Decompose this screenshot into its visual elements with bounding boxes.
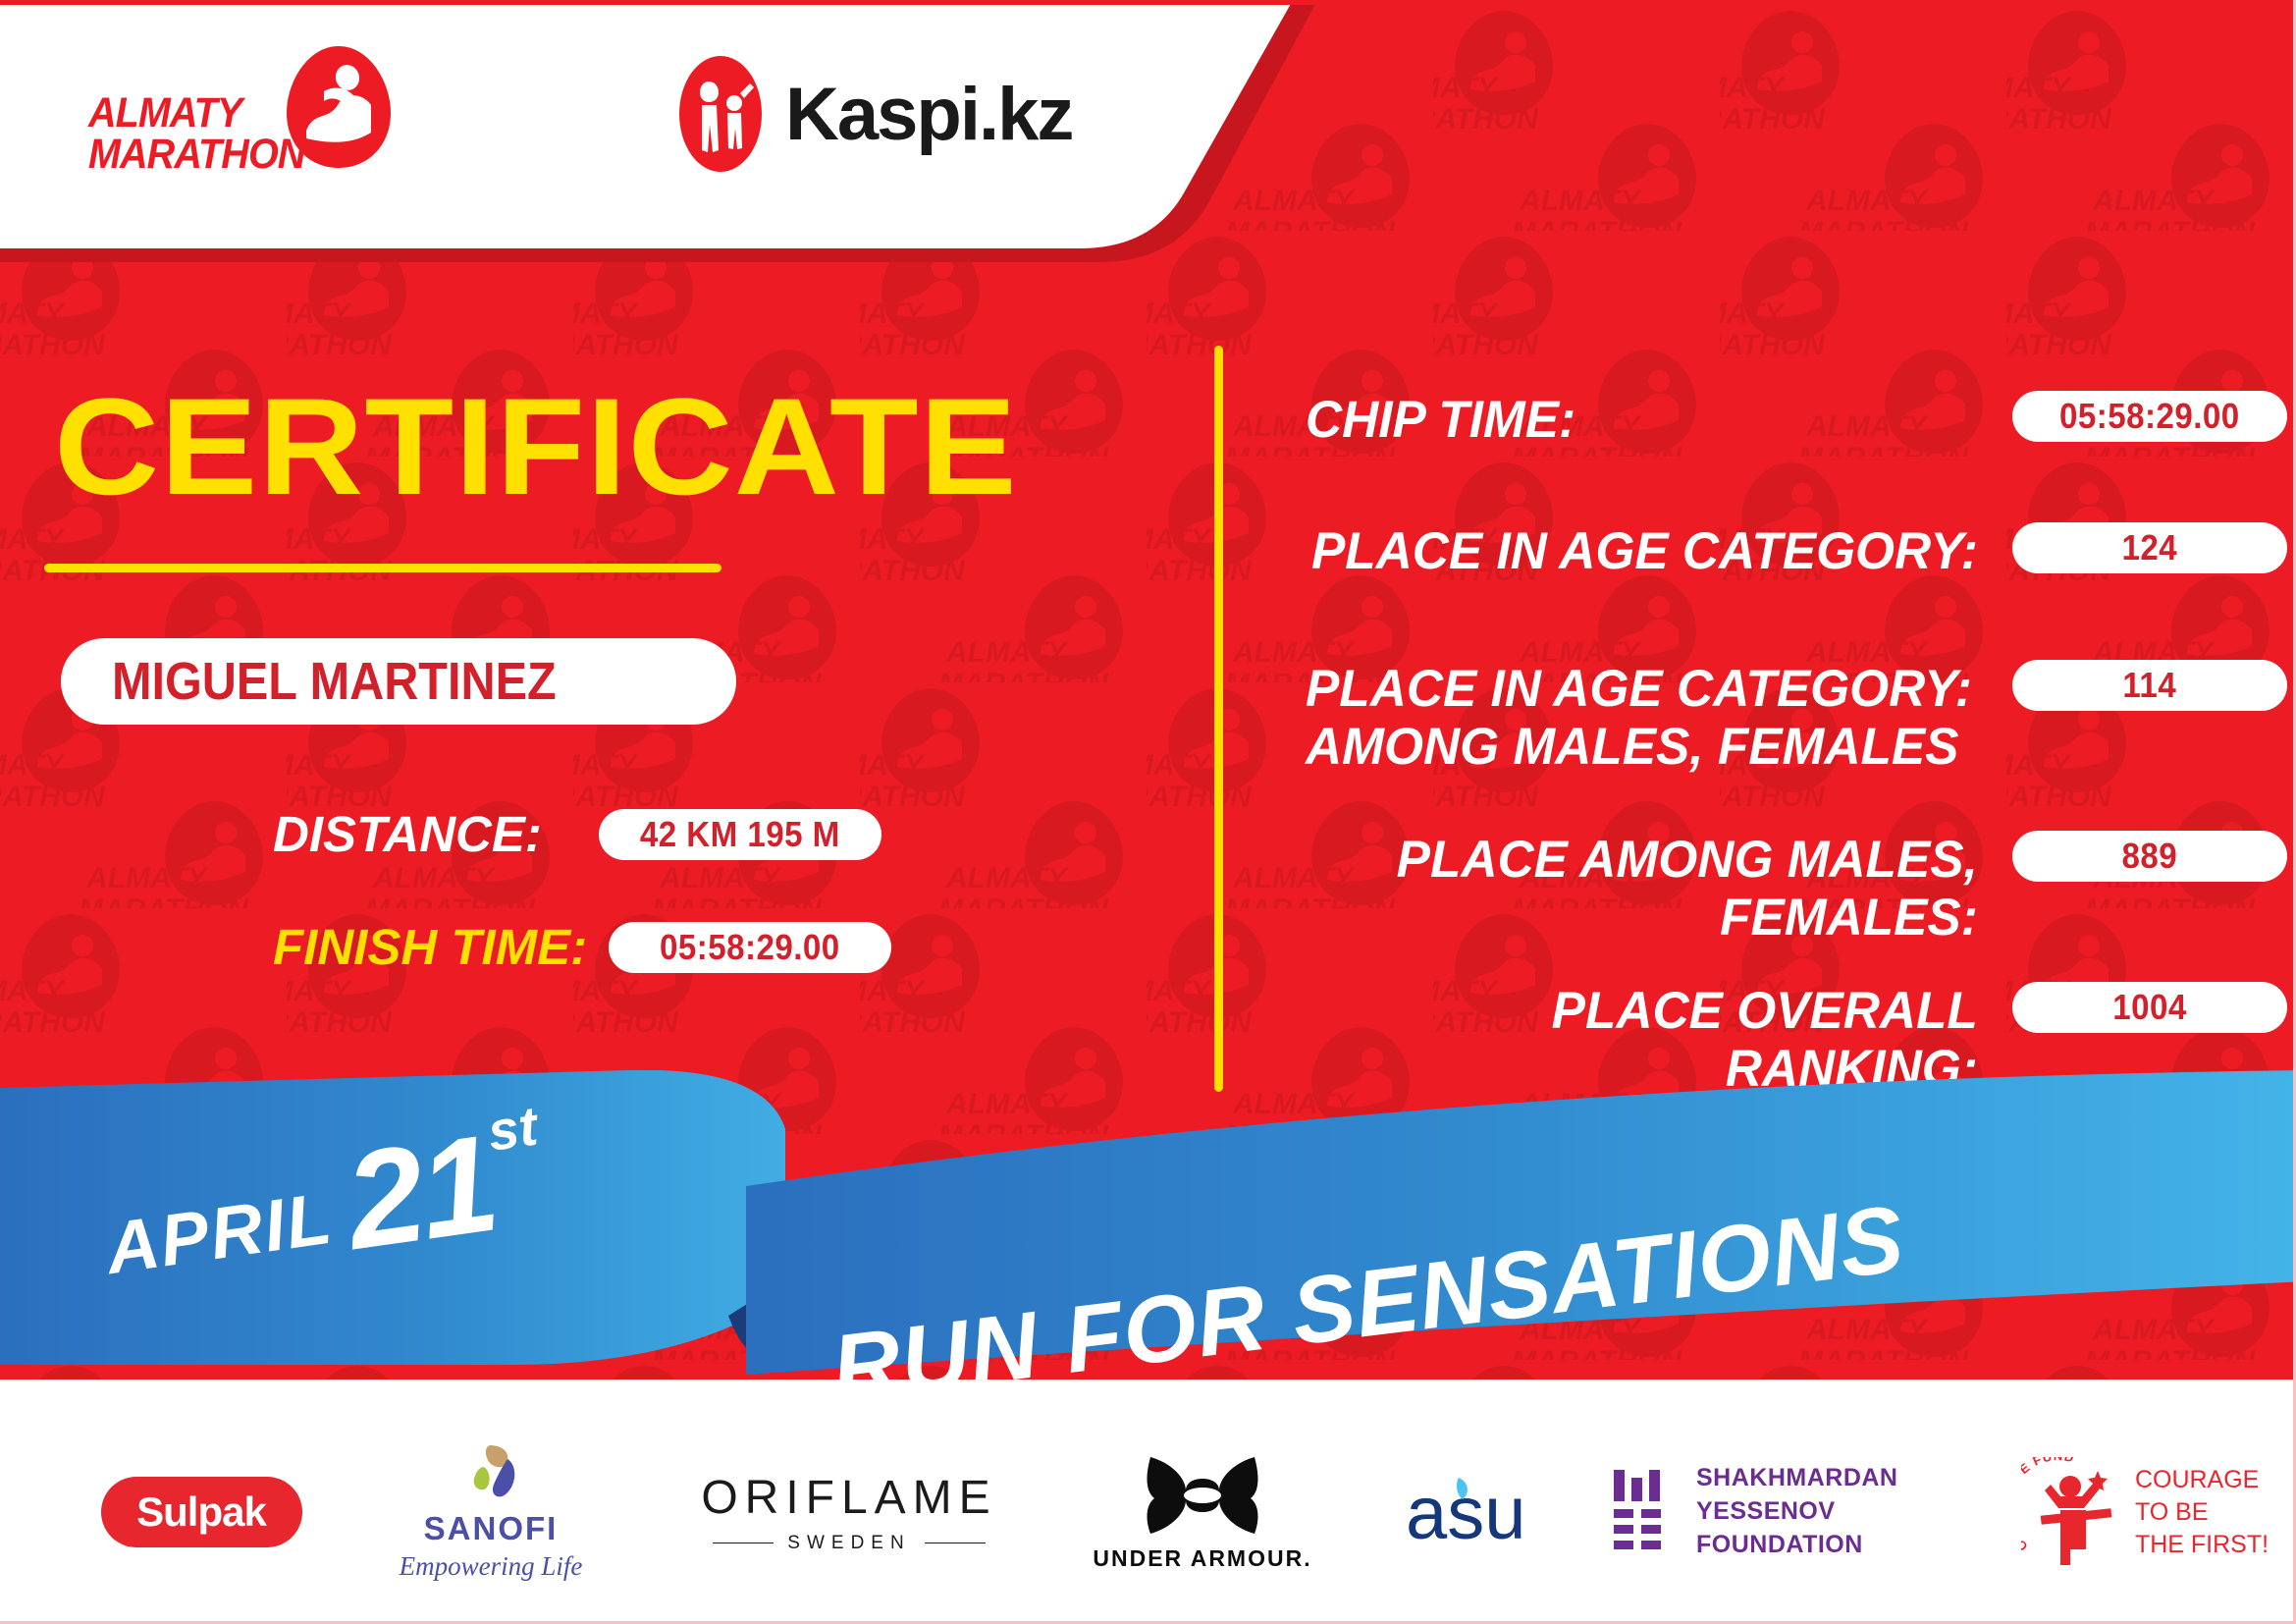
chip-time-value-pill: 05:58:29.00 [2012, 391, 2287, 442]
oriflame-wordmark: ORIFLAME [701, 1471, 996, 1525]
sponsor-strip: Sulpak SANOFI Empowering Life ORIFLAME S… [0, 1404, 2296, 1620]
oriflame-sub-row: SWEDEN [687, 1533, 1011, 1554]
distance-value-pill: 42 KM 195 M [599, 809, 881, 860]
chip-time-label: CHIP TIME: [1306, 391, 1978, 449]
event-day-suffix: st [484, 1094, 541, 1164]
place-age-category-row: PLACE IN AGE CATEGORY: 124 [1306, 522, 2287, 580]
certificate-title: CERTIFICATE [54, 378, 1018, 515]
distance-label: DISTANCE: [273, 805, 542, 863]
sponsor-asu: asu [1364, 1404, 1590, 1620]
title-underline-rule [44, 564, 721, 572]
distance-value: 42 KM 195 M [640, 814, 840, 855]
yessenov-logo: SHAKHMARDAN YESSENOV FOUNDATION [1610, 1462, 1993, 1561]
place-age-category-label: PLACE IN AGE CATEGORY: [1306, 522, 1978, 580]
place-among-gender-row: PLACE AMONG MALES,FEMALES: 889 [1306, 831, 2287, 947]
place-overall-ranking-value: 1004 [2112, 987, 2187, 1028]
finish-time-label: FINISH TIME: [273, 918, 587, 976]
place-age-category-value: 124 [2122, 527, 2178, 568]
left-column: CERTIFICATE MIGUEL MARTINEZ DISTANCE: 42… [0, 0, 1217, 1139]
place-age-category-value-pill: 124 [2012, 522, 2287, 573]
place-overall-ranking-value-pill: 1004 [2012, 982, 2287, 1033]
sponsor-under-armour: UNDER ARMOUR. [1055, 1404, 1350, 1620]
place-age-category-gender-value-pill: 114 [2012, 660, 2287, 711]
top-edge-rule [0, 0, 2296, 5]
under-armour-wordmark: UNDER ARMOUR. [1093, 1545, 1311, 1572]
place-age-category-gender-label: PLACE IN AGE CATEGORY:AMONG MALES, FEMAL… [1306, 660, 1978, 777]
chip-time-row: CHIP TIME: 05:58:29.00 [1306, 391, 2287, 449]
finish-time-value-pill: 05:58:29.00 [609, 922, 891, 973]
sponsor-yessenov-foundation: SHAKHMARDAN YESSENOV FOUNDATION [1610, 1404, 1993, 1620]
oriflame-rule-left [713, 1543, 774, 1544]
finish-time-row: FINISH TIME: 05:58:29.00 [273, 918, 891, 976]
event-day-number: 21 [340, 1124, 502, 1261]
under-armour-icon [1143, 1453, 1262, 1538]
oriflame-country: SWEDEN [787, 1533, 910, 1554]
place-among-gender-value: 889 [2122, 836, 2178, 877]
yessenov-bars-icon [1610, 1468, 1671, 1556]
place-among-gender-value-pill: 889 [2012, 831, 2287, 882]
sponsor-oriflame: ORIFLAME SWEDEN [687, 1404, 1011, 1620]
chip-time-value: 05:58:29.00 [2059, 396, 2240, 437]
yessenov-name-line: SHAKHMARDAN YESSENOV [1696, 1462, 1993, 1529]
courage-line-3: THE FIRST! [2135, 1529, 2269, 1561]
courage-line-1: COURAGE [2135, 1464, 2269, 1496]
yessenov-wordmark: SHAKHMARDAN YESSENOV FOUNDATION [1696, 1462, 1993, 1561]
sanofi-tagline: Empowering Life [400, 1551, 583, 1582]
courage-logo: CORPORATE FUND COURAGE TO BE THE FIRST! [2021, 1457, 2269, 1567]
finish-time-value: 05:58:29.00 [660, 927, 840, 968]
certificate-page: ALMATY MARATHON [0, 0, 2296, 1624]
yessenov-sub-line: FOUNDATION [1696, 1529, 1993, 1562]
place-age-category-gender-value: 114 [2123, 665, 2177, 706]
athlete-name-text: MIGUEL MARTINEZ [112, 651, 557, 712]
sponsor-sulpak: Sulpak [59, 1404, 344, 1620]
sanofi-wordmark: SANOFI [424, 1510, 559, 1547]
courage-wordmark: COURAGE TO BE THE FIRST! [2135, 1464, 2269, 1561]
asu-logo: asu [1404, 1468, 1551, 1556]
sulpak-wordmark: Sulpak [136, 1489, 266, 1536]
sanofi-petal-icon [460, 1443, 521, 1504]
place-age-category-gender-row: PLACE IN AGE CATEGORY:AMONG MALES, FEMAL… [1306, 660, 2287, 777]
sponsor-courage-fund: CORPORATE FUND COURAGE TO BE THE FIRST! [2007, 1404, 2282, 1620]
courage-runner-icon: CORPORATE FUND [2021, 1457, 2127, 1567]
right-column-stats: CHIP TIME: 05:58:29.00 PLACE IN AGE CATE… [1276, 0, 2296, 1139]
courage-line-2: TO BE [2135, 1496, 2269, 1529]
place-among-gender-label: PLACE AMONG MALES,FEMALES: [1306, 831, 1978, 947]
sulpak-logo: Sulpak [101, 1477, 302, 1547]
athlete-name-field: MIGUEL MARTINEZ [61, 638, 736, 725]
column-divider [1214, 346, 1223, 1092]
oriflame-rule-right [925, 1543, 986, 1544]
sponsor-sanofi: SANOFI Empowering Life [348, 1404, 633, 1620]
distance-row: DISTANCE: 42 KM 195 M [273, 805, 881, 863]
